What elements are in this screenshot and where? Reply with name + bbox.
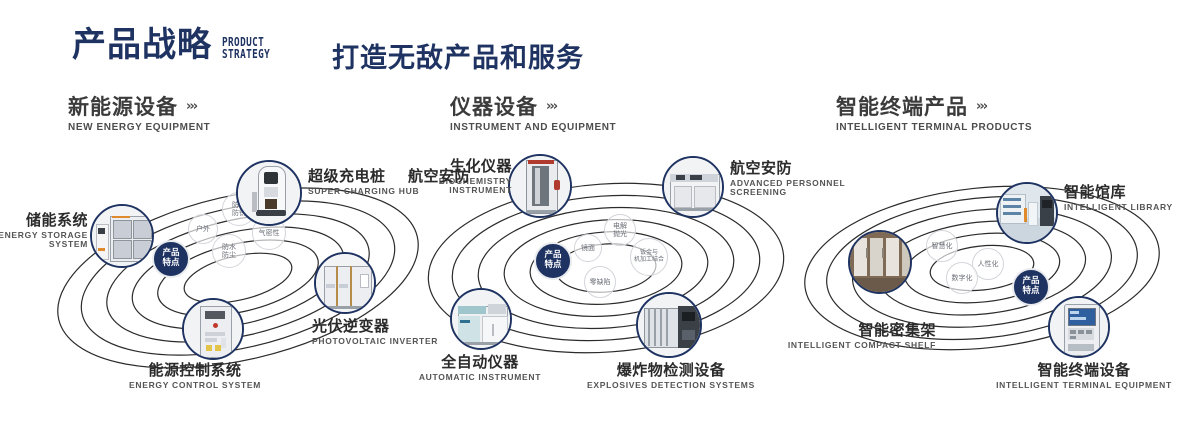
page-title-cn: 产品战略 xyxy=(72,28,212,62)
label-en: EXPLOSIVES DETECTION SYSTEMS xyxy=(576,381,766,391)
node-automatic-instrument[interactable] xyxy=(450,288,512,350)
pv-inverter-cabinet-icon xyxy=(316,254,374,312)
node-intelligent-library[interactable] xyxy=(996,182,1058,244)
feature-bubble-text: 电解抛光 xyxy=(613,222,627,238)
label-cn: 全自动仪器 xyxy=(390,354,570,371)
label-intelligent-terminal-equipment: 智能终端设备 INTELLIGENT TERMINAL EQUIPMENT xyxy=(984,362,1184,390)
node-energy-control-system[interactable] xyxy=(182,298,244,360)
product-strategy-infographic: 产品战略 PRODUCT STRATEGY 打造无敌产品和服务 新能源设备 ››… xyxy=(0,0,1200,422)
cluster-instrument: 产品 特点 镜面 电解抛光 钣金与机加工结合 零缺陷 生化仪器 BIOCHEM xyxy=(408,150,808,400)
section-title-cn-text: 新能源设备 xyxy=(68,96,178,118)
feature-bubble-intelligent: 智慧化 xyxy=(926,230,958,262)
node-energy-storage-system[interactable] xyxy=(90,204,154,268)
section-title-cn: 仪器设备 ››› xyxy=(450,96,616,118)
cluster-intelligent-terminal: 智慧化 人性化 数字化 产品 特点 智能馆库 I xyxy=(800,150,1200,400)
feature-bubble-zero-defect: 零缺陷 xyxy=(584,266,616,298)
feature-bubble-waterproof: 防水防尘 xyxy=(212,234,246,268)
label-intelligent-library: 智能馆库 INTELLIGENT LIBRARY xyxy=(1064,184,1194,212)
section-title-cn-text: 仪器设备 xyxy=(450,96,538,118)
node-intelligent-compact-shelf[interactable] xyxy=(848,230,912,294)
section-title-cn-text: 智能终端产品 xyxy=(836,96,968,118)
label-en: ENERGY CONTROL SYSTEM xyxy=(100,381,290,391)
feature-bubble-electropolishing: 电解抛光 xyxy=(604,214,636,246)
section-title-en: INSTRUMENT AND EQUIPMENT xyxy=(450,122,616,133)
center-bubble-text: 产品 特点 xyxy=(162,249,179,269)
section-title-en: NEW ENERGY EQUIPMENT xyxy=(68,122,210,133)
label-cn: 智能密集架 xyxy=(756,322,936,339)
library-room-icon xyxy=(998,184,1056,242)
charging-pile-icon xyxy=(238,162,300,224)
label-en: INTELLIGENT LIBRARY xyxy=(1064,203,1194,213)
chevron-right-icon: ››› xyxy=(186,100,196,114)
chevron-right-icon: ››› xyxy=(976,100,986,114)
feature-bubble-digitalized: 数字化 xyxy=(946,262,978,294)
node-intelligent-terminal-equipment[interactable] xyxy=(1048,296,1110,358)
label-en: AUTOMATIC INSTRUMENT xyxy=(390,373,570,383)
chevron-right-icon: ››› xyxy=(546,100,556,114)
security-scanner-icon xyxy=(510,156,570,216)
section-header-instrument: 仪器设备 ››› INSTRUMENT AND EQUIPMENT xyxy=(450,96,616,133)
automatic-instrument-icon xyxy=(452,290,510,348)
center-bubble-product-features: 产品 特点 xyxy=(534,242,572,280)
section-title-cn: 新能源设备 ››› xyxy=(68,96,210,118)
label-aviation-security-extra: 航空安防 xyxy=(408,168,478,185)
node-advanced-personnel-screening[interactable] xyxy=(662,156,724,218)
cluster-new-energy: 产品 特点 户外 防腐防锈 防水防尘 气密性 xyxy=(40,150,440,400)
feature-bubble-sheetmetal-machining: 钣金与机加工结合 xyxy=(630,238,668,276)
label-cn: 储能系统 xyxy=(0,212,88,229)
page-title-en: PRODUCT STRATEGY xyxy=(222,36,270,60)
label-explosives-detection-systems: 爆炸物检测设备 EXPLOSIVES DETECTION SYSTEMS xyxy=(576,362,766,390)
center-bubble-text: 产品 特点 xyxy=(544,251,561,271)
detection-cabinet-icon xyxy=(638,294,700,356)
center-bubble-text: 产品 特点 xyxy=(1022,277,1039,297)
feature-bubble-text: 防水防尘 xyxy=(222,243,236,259)
section-title-en: INTELLIGENT TERMINAL PRODUCTS xyxy=(836,122,1032,133)
label-energy-storage-system: 储能系统 ENERGY STORAGE SYSTEM xyxy=(0,212,88,250)
section-header-intelligent-terminal: 智能终端产品 ››› INTELLIGENT TERMINAL PRODUCTS xyxy=(836,96,1032,133)
node-super-charging-hub[interactable] xyxy=(236,160,302,226)
center-bubble-product-features: 产品 特点 xyxy=(1012,268,1050,306)
label-en: INTELLIGENT TERMINAL EQUIPMENT xyxy=(984,381,1184,391)
feature-bubble-mirror-finish: 镜面 xyxy=(574,234,602,262)
section-header-new-energy: 新能源设备 ››› NEW ENERGY EQUIPMENT xyxy=(68,96,210,133)
control-cabinet-icon xyxy=(184,300,242,358)
page-title-en-line2: STRATEGY xyxy=(222,48,270,60)
section-title-cn: 智能终端产品 ››› xyxy=(836,96,1032,118)
label-energy-control-system: 能源控制系统 ENERGY CONTROL SYSTEM xyxy=(100,362,290,390)
label-en: ENERGY STORAGE SYSTEM xyxy=(0,231,88,250)
label-intelligent-compact-shelf: 智能密集架 INTELLIGENT COMPACT SHELF xyxy=(756,322,936,350)
node-photovoltaic-inverter[interactable] xyxy=(314,252,376,314)
label-cn: 能源控制系统 xyxy=(100,362,290,379)
feature-bubble-outdoor: 户外 xyxy=(188,214,218,244)
terminal-kiosk-icon xyxy=(1050,298,1108,356)
node-biochemistry-instrument[interactable] xyxy=(508,154,572,218)
label-cn: 航空安防 xyxy=(408,168,478,185)
label-cn: 智能馆库 xyxy=(1064,184,1194,201)
label-en: INTELLIGENT COMPACT SHELF xyxy=(756,341,936,351)
label-cn: 爆炸物检测设备 xyxy=(576,362,766,379)
node-explosives-detection-systems[interactable] xyxy=(636,292,702,358)
page-title: 产品战略 PRODUCT STRATEGY xyxy=(72,28,284,62)
compact-shelf-icon xyxy=(850,232,910,292)
analyzer-machine-icon xyxy=(664,158,722,216)
feature-bubble-text: 钣金与机加工结合 xyxy=(634,250,664,264)
energy-storage-cabinet-icon xyxy=(92,206,152,266)
label-automatic-instrument: 全自动仪器 AUTOMATIC INSTRUMENT xyxy=(390,354,570,382)
center-bubble-product-features: 产品 特点 xyxy=(152,240,190,278)
label-cn: 智能终端设备 xyxy=(984,362,1184,379)
page-subtitle: 打造无敌产品和服务 xyxy=(332,36,584,75)
